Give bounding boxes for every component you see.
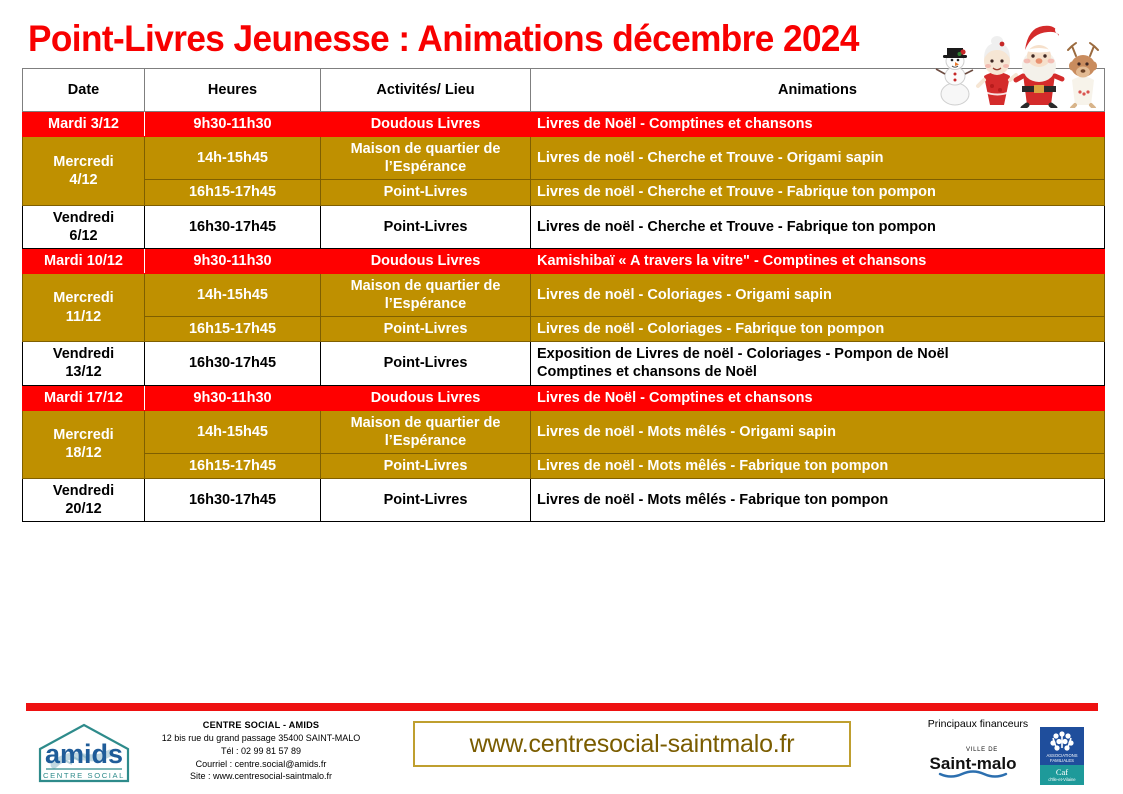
caf-line3: Caf	[1056, 767, 1068, 777]
cell-lieu: Point-Livres	[321, 317, 531, 342]
financeurs-label: Principaux financeurs	[898, 718, 1058, 730]
cell-animation-line2: Comptines et chansons de Noël	[537, 363, 1098, 381]
cell-date: Mardi 17/12	[23, 385, 145, 410]
table-row: Mardi 10/12 9h30-11h30 Doudous Livres Ka…	[23, 248, 1105, 273]
cell-date-line2: 13/12	[29, 363, 138, 381]
cell-date: Vendredi 13/12	[23, 342, 145, 385]
cell-lieu-line1: Maison de quartier de	[327, 140, 524, 158]
table-row: Mardi 3/12 9h30-11h30 Doudous Livres Liv…	[23, 112, 1105, 137]
cell-heures: 14h-15h45	[145, 273, 321, 316]
cell-heures: 9h30-11h30	[145, 112, 321, 137]
table-row: Vendredi 13/12 16h30-17h45 Point-Livres …	[23, 342, 1105, 385]
cell-heures: 14h-15h45	[145, 410, 321, 453]
cell-date: Vendredi 6/12	[23, 205, 145, 248]
cell-heures: 16h15-17h45	[145, 453, 321, 478]
cell-date: Mardi 10/12	[23, 248, 145, 273]
cell-heures: 9h30-11h30	[145, 248, 321, 273]
cell-date-line1: Vendredi	[29, 482, 138, 500]
cell-heures: 16h30-17h45	[145, 479, 321, 522]
amids-logo: amids CENTRE SOCIAL	[32, 719, 136, 787]
cell-animation: Kamishibaï « A travers la vitre" - Compt…	[531, 248, 1105, 273]
cell-date-line2: 20/12	[29, 500, 138, 518]
cell-date: Vendredi 20/12	[23, 479, 145, 522]
cell-date-line2: 11/12	[29, 308, 138, 326]
cell-animation: Livres de noël - Mots mêlés - Origami sa…	[531, 410, 1105, 453]
table-row: Mercredi 18/12 14h-15h45 Maison de quart…	[23, 410, 1105, 453]
cell-lieu: Point-Livres	[321, 479, 531, 522]
contact-name: CENTRE SOCIAL - AMIDS	[152, 719, 370, 732]
cell-heures: 16h15-17h45	[145, 317, 321, 342]
cell-date-line1: Mercredi	[29, 289, 138, 307]
cell-date: Mercredi 4/12	[23, 137, 145, 205]
column-header-heures: Heures	[145, 69, 321, 112]
cell-date-line2: 6/12	[29, 227, 138, 245]
cell-heures: 16h15-17h45	[145, 180, 321, 205]
cell-animation: Livres de noël - Mots mêlés - Fabrique t…	[531, 479, 1105, 522]
cell-date-line1: Mercredi	[29, 426, 138, 444]
table-row: Mercredi 4/12 14h-15h45 Maison de quarti…	[23, 137, 1105, 180]
column-header-animations: Animations	[531, 69, 1105, 112]
table-row: Mercredi 11/12 14h-15h45 Maison de quart…	[23, 273, 1105, 316]
website-url-banner[interactable]: www.centresocial-saintmalo.fr	[413, 721, 851, 767]
column-header-activites-lieu: Activités/ Lieu	[321, 69, 531, 112]
cell-lieu: Point-Livres	[321, 205, 531, 248]
cell-animation: Livres de noël - Cherche et Trouve - Fab…	[531, 180, 1105, 205]
cell-lieu-line1: Maison de quartier de	[327, 277, 524, 295]
cell-animation: Livres de noël - Cherche et Trouve - Ori…	[531, 137, 1105, 180]
animations-schedule-table: Date Heures Activités/ Lieu Animations M…	[22, 68, 1105, 522]
cell-animation: Livres de Noël - Comptines et chansons	[531, 385, 1105, 410]
cell-heures: 16h30-17h45	[145, 205, 321, 248]
cell-lieu: Point-Livres	[321, 453, 531, 478]
cell-lieu-line2: l’Espérance	[327, 158, 524, 176]
cell-heures: 14h-15h45	[145, 137, 321, 180]
saint-malo-top-text: VILLE DE	[966, 747, 998, 753]
table-row: Vendredi 20/12 16h30-17h45 Point-Livres …	[23, 479, 1105, 522]
cell-lieu-line1: Maison de quartier de	[327, 414, 524, 432]
caf-line2: FAMILIALES	[1050, 758, 1074, 763]
poster-header: Point-Livres Jeunesse : Animations décem…	[0, 8, 1123, 64]
ville-de-saint-malo-logo: VILLE DE Saint-malo	[920, 738, 1026, 782]
cell-date: Mercredi 11/12	[23, 273, 145, 341]
cell-lieu: Doudous Livres	[321, 385, 531, 410]
cell-date-line1: Vendredi	[29, 209, 138, 227]
cell-date-line2: 4/12	[29, 171, 138, 189]
table-header-row: Date Heures Activités/ Lieu Animations	[23, 69, 1105, 112]
cell-date-line1: Mercredi	[29, 153, 138, 171]
contact-block: CENTRE SOCIAL - AMIDS 12 bis rue du gran…	[152, 719, 370, 783]
saint-malo-wordmark: Saint-malo	[930, 754, 1017, 773]
amids-wordmark: amids	[45, 739, 123, 769]
schedule-table-wrapper: Date Heures Activités/ Lieu Animations M…	[22, 68, 1104, 522]
cell-date-line2: 18/12	[29, 444, 138, 462]
page-title: Point-Livres Jeunesse : Animations décem…	[28, 18, 859, 60]
cell-date: Mardi 3/12	[23, 112, 145, 137]
table-row: 16h15-17h45 Point-Livres Livres de noël …	[23, 180, 1105, 205]
cell-date-line1: Vendredi	[29, 345, 138, 363]
column-header-date: Date	[23, 69, 145, 112]
cell-lieu: Doudous Livres	[321, 248, 531, 273]
cell-lieu: Maison de quartier de l’Espérance	[321, 273, 531, 316]
cell-animation: Livres de noël - Cherche et Trouve - Fab…	[531, 205, 1105, 248]
cell-animation-line1: Exposition de Livres de noël - Coloriage…	[537, 345, 1098, 363]
cell-lieu-line2: l’Espérance	[327, 432, 524, 450]
cell-date: Mercredi 18/12	[23, 410, 145, 478]
caf-line4: d'Ille-et-Vilaine	[1048, 777, 1076, 782]
cell-lieu-line2: l’Espérance	[327, 295, 524, 313]
cell-lieu: Point-Livres	[321, 180, 531, 205]
cell-animation: Exposition de Livres de noël - Coloriage…	[531, 342, 1105, 385]
contact-site: Site : www.centresocial-saintmalo.fr	[152, 770, 370, 783]
table-row: 16h15-17h45 Point-Livres Livres de noël …	[23, 317, 1105, 342]
cell-lieu: Doudous Livres	[321, 112, 531, 137]
table-row: 16h15-17h45 Point-Livres Livres de noël …	[23, 453, 1105, 478]
cell-heures: 9h30-11h30	[145, 385, 321, 410]
cell-heures: 16h30-17h45	[145, 342, 321, 385]
cell-lieu: Maison de quartier de l’Espérance	[321, 410, 531, 453]
contact-phone: Tél : 02 99 81 57 89	[152, 745, 370, 758]
table-row: Mardi 17/12 9h30-11h30 Doudous Livres Li…	[23, 385, 1105, 410]
cell-lieu: Point-Livres	[321, 342, 531, 385]
contact-email: Courriel : centre.social@amids.fr	[152, 758, 370, 771]
cell-lieu: Maison de quartier de l’Espérance	[321, 137, 531, 180]
cell-animation: Livres de noël - Coloriages - Origami sa…	[531, 273, 1105, 316]
footer-divider	[26, 703, 1098, 711]
caf-associations-familiales-logo: ASSOCIATIONS FAMILIALES Caf d'Ille-et-Vi…	[1040, 727, 1084, 785]
amids-subtitle: CENTRE SOCIAL	[43, 771, 125, 780]
contact-address: 12 bis rue du grand passage 35400 SAINT-…	[152, 732, 370, 745]
cell-animation: Livres de Noël - Comptines et chansons	[531, 112, 1105, 137]
table-row: Vendredi 6/12 16h30-17h45 Point-Livres L…	[23, 205, 1105, 248]
cell-animation: Livres de noël - Coloriages - Fabrique t…	[531, 317, 1105, 342]
website-url-text: www.centresocial-saintmalo.fr	[470, 730, 795, 759]
poster-page: Point-Livres Jeunesse : Animations décem…	[0, 0, 1123, 794]
cell-animation: Livres de noël - Mots mêlés - Fabrique t…	[531, 453, 1105, 478]
